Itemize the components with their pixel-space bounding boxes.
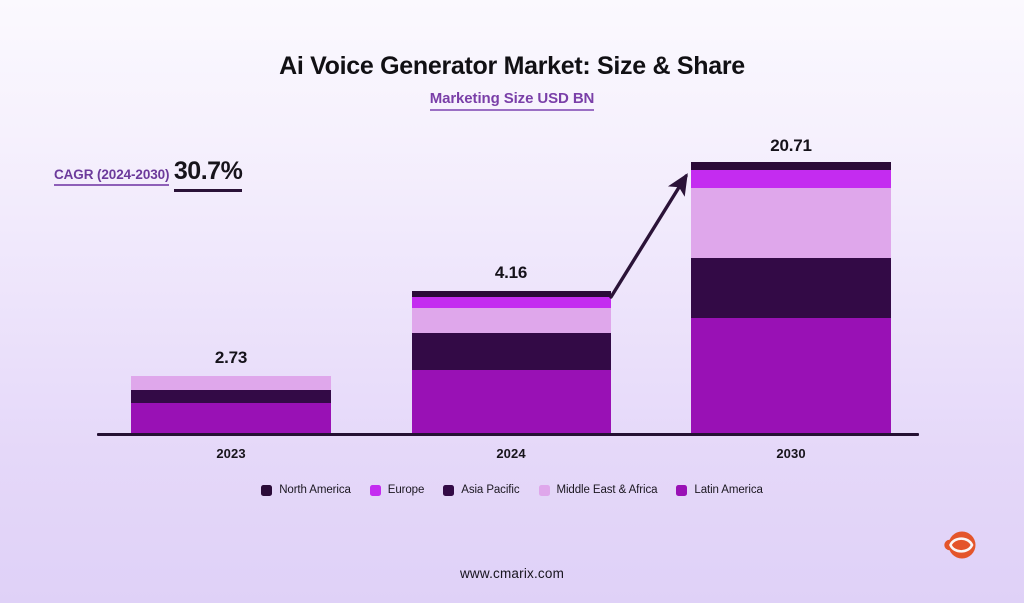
bar-2023 [131, 376, 331, 434]
legend-label: North America [279, 484, 351, 496]
footer-url[interactable]: www.cmarix.com [0, 566, 1024, 581]
legend-label: Latin America [694, 484, 762, 496]
legend-item-europe[interactable]: Europe [370, 484, 424, 496]
bar-value-label: 20.71 [731, 136, 851, 156]
legend-item-middle-east-africa[interactable]: Middle East & Africa [539, 484, 658, 496]
legend-label: Europe [388, 484, 424, 496]
bar-segment-asia-pacific [691, 258, 891, 318]
bar-2024 [412, 291, 611, 434]
legend-label: Middle East & Africa [557, 484, 658, 496]
bar-segment-north-america [691, 162, 891, 170]
bar-segment-europe [412, 297, 611, 308]
bar-value-label: 4.16 [451, 263, 571, 283]
bar-2030 [691, 162, 891, 434]
legend-item-latin-america[interactable]: Latin America [676, 484, 762, 496]
chart-legend: North AmericaEuropeAsia PacificMiddle Ea… [0, 484, 1024, 496]
chart-canvas: Ai Voice Generator Market: Size & Share … [0, 0, 1024, 603]
legend-item-asia-pacific[interactable]: Asia Pacific [443, 484, 519, 496]
x-axis-label-2030: 2030 [731, 446, 851, 461]
cmarix-logo-icon [941, 527, 977, 563]
legend-swatch [676, 485, 687, 496]
bar-segment-middle-east-africa [131, 376, 331, 390]
bar-segment-asia-pacific [131, 390, 331, 403]
bar-segment-latin-america [131, 403, 331, 434]
bar-segment-latin-america [691, 318, 891, 434]
bar-value-label: 2.73 [171, 348, 291, 368]
bar-segment-latin-america [412, 370, 611, 434]
bar-group [0, 0, 1024, 434]
legend-item-north-america[interactable]: North America [261, 484, 351, 496]
legend-swatch [261, 485, 272, 496]
legend-label: Asia Pacific [461, 484, 519, 496]
bar-segment-middle-east-africa [691, 188, 891, 258]
legend-swatch [539, 485, 550, 496]
legend-swatch [370, 485, 381, 496]
x-axis-line [97, 433, 919, 436]
bar-segment-middle-east-africa [412, 308, 611, 333]
bar-segment-asia-pacific [412, 333, 611, 370]
legend-swatch [443, 485, 454, 496]
x-axis-label-2023: 2023 [171, 446, 291, 461]
x-axis-label-2024: 2024 [451, 446, 571, 461]
bar-segment-europe [691, 170, 891, 188]
